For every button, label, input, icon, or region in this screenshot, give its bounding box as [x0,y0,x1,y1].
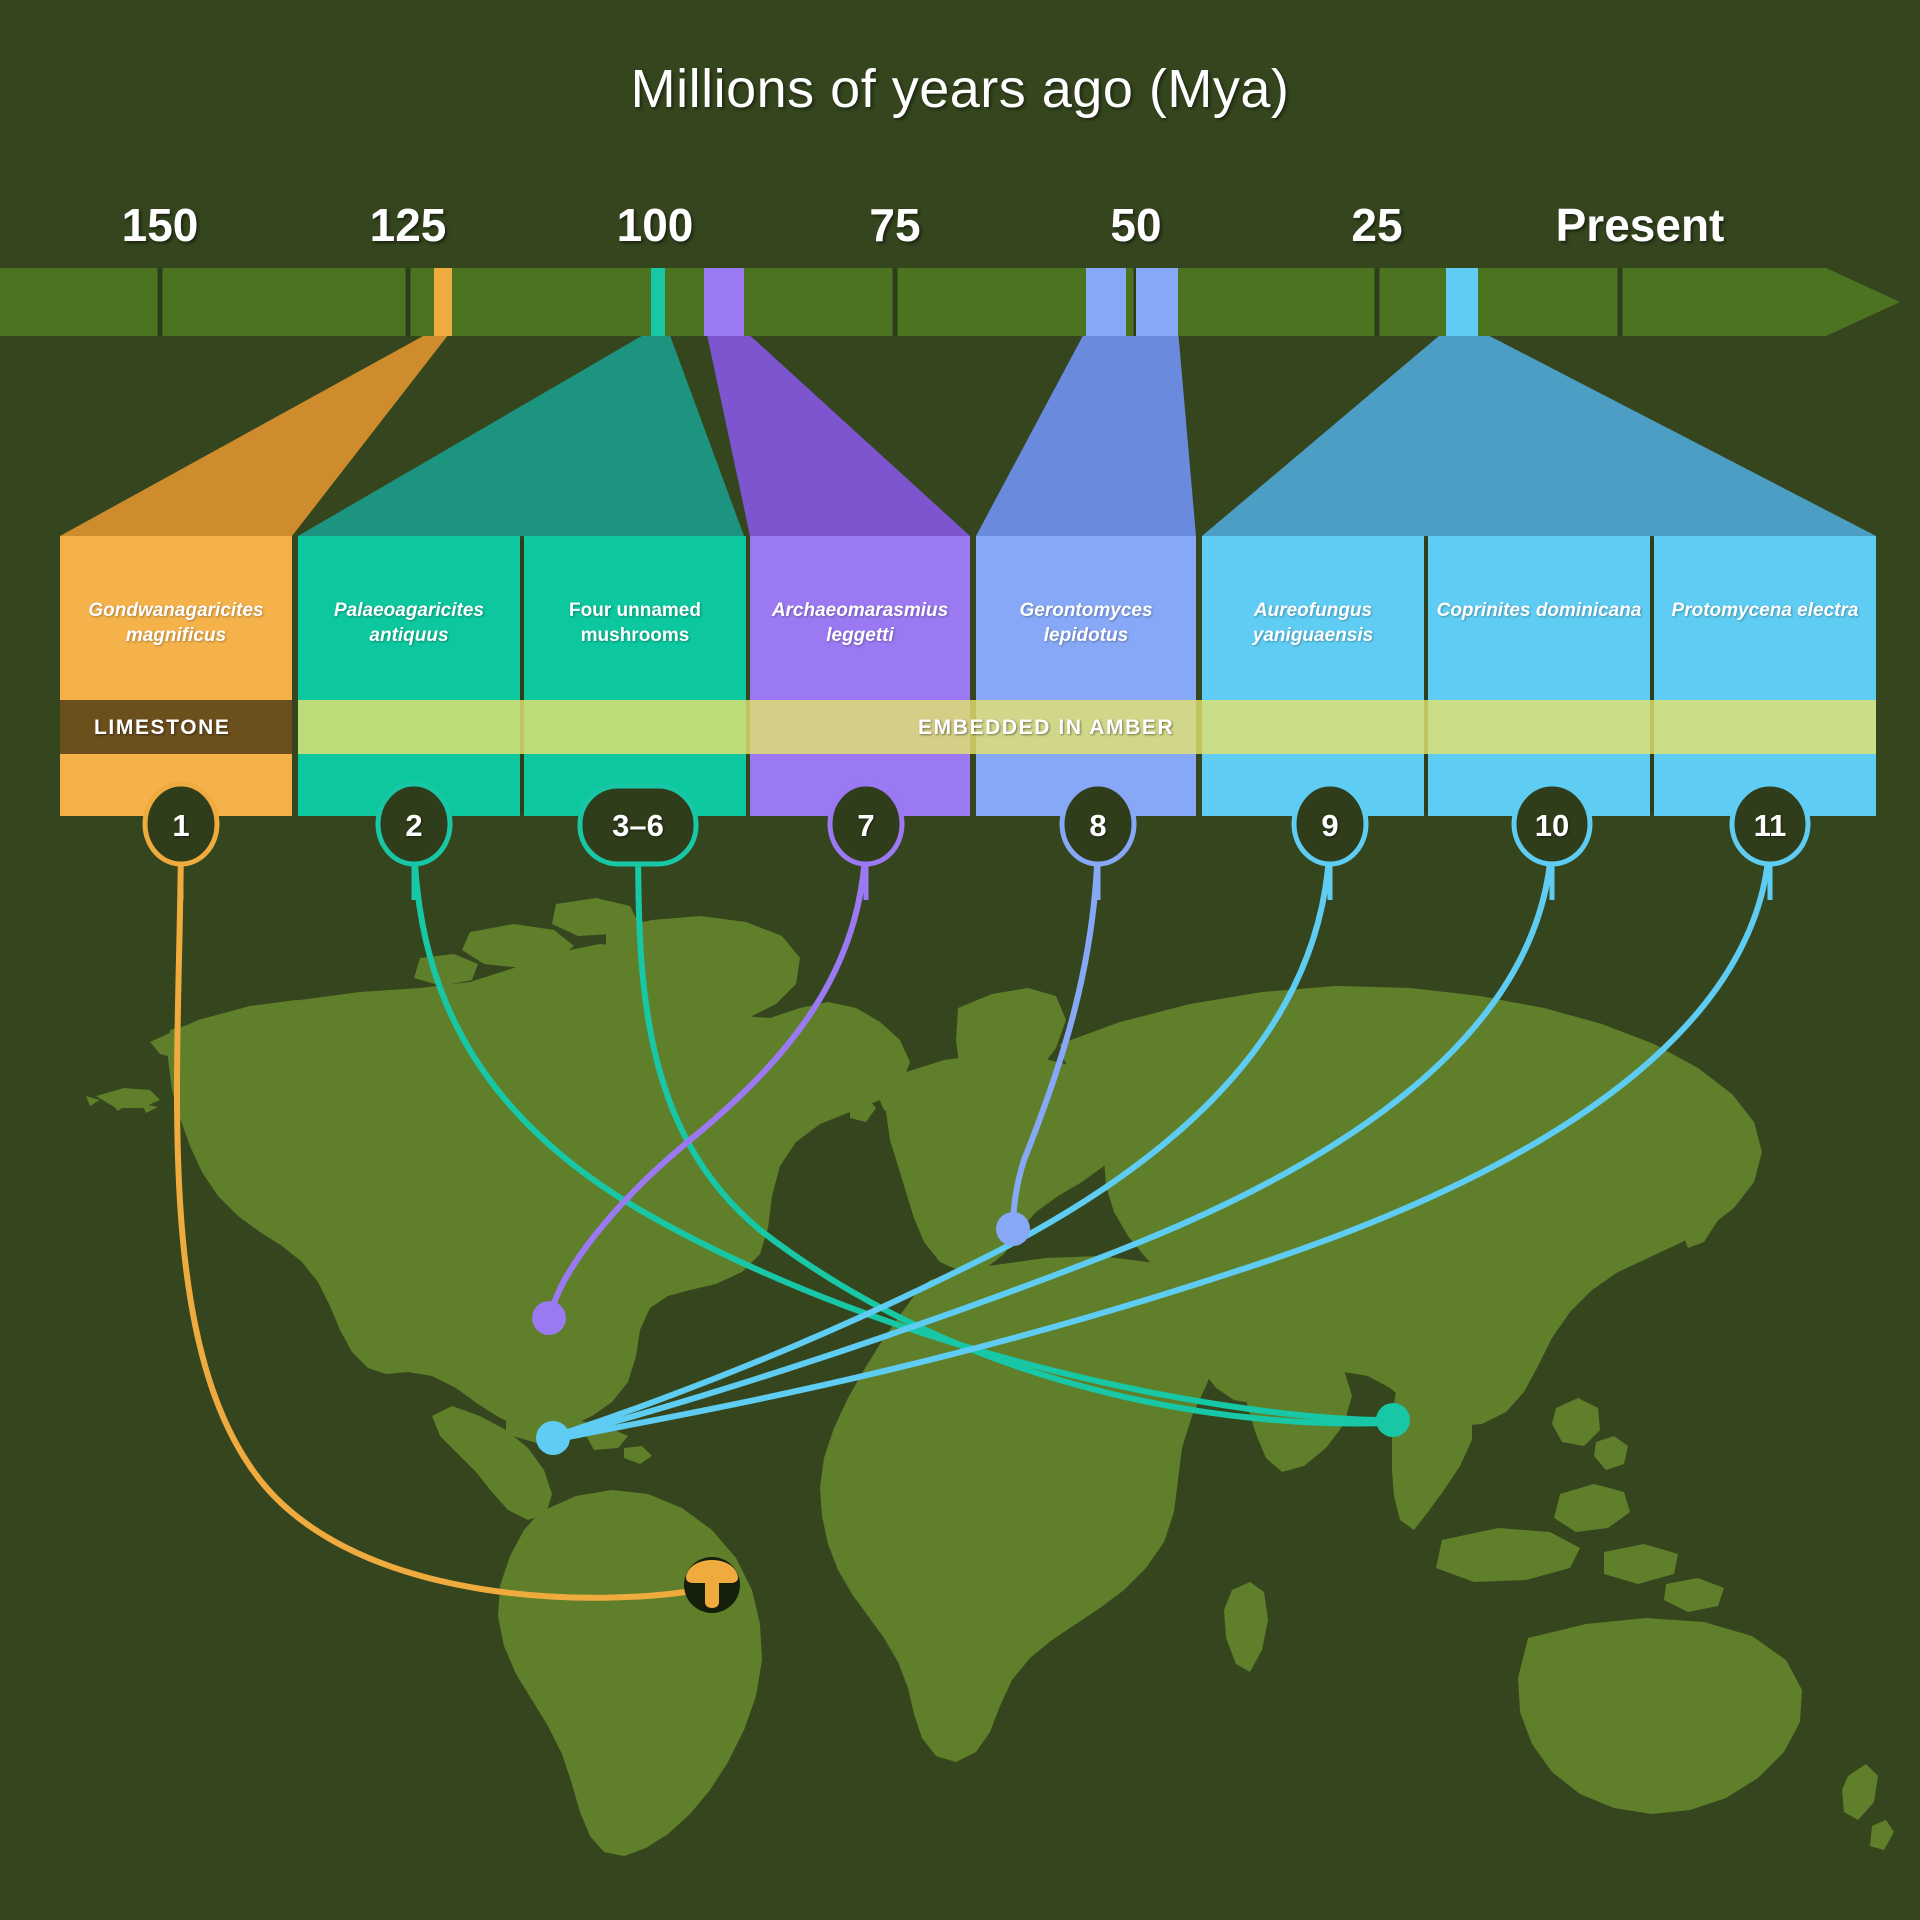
axis-tick-150: 150 [122,198,199,252]
timeline-bar [0,268,1900,336]
timeline-marker-8 [1136,268,1178,336]
species-card-10[interactable] [1428,536,1650,816]
badge-label-1: 1 [172,808,189,844]
infographic-root: Millions of years ago (Mya) 150 125 100 … [0,0,1920,1920]
timeline-marker-1 [434,268,452,336]
endpoint-dot-new-jersey [532,1301,566,1335]
timeline-marker-9-11 [1446,268,1478,336]
badge-label-9: 9 [1321,808,1338,844]
badge-label-8: 8 [1089,808,1106,844]
species-card-11[interactable] [1654,536,1876,816]
species-card-7[interactable] [750,536,970,816]
axis-tick-25: 25 [1351,198,1402,252]
badge-label-3-6: 3–6 [612,808,664,844]
timeline-marker-7 [1086,268,1126,336]
badge-label-10: 10 [1535,808,1569,844]
endpoint-dot-baltic [996,1212,1030,1246]
species-card-2[interactable] [298,536,520,816]
endpoint-dot-myanmar [1376,1403,1410,1437]
page-title: Millions of years ago (Mya) [0,58,1920,120]
endpoint-dot-dominican [536,1421,570,1455]
badge-label-2: 2 [405,808,422,844]
species-card-group [60,536,1876,816]
mushroom-icon [684,1557,740,1613]
axis-tick-present: Present [1556,198,1725,252]
axis-tick-100: 100 [617,198,694,252]
axis-tick-50: 50 [1110,198,1161,252]
timeline-marker-2 [651,268,665,336]
species-card-3-6[interactable] [524,536,746,816]
infographic-canvas [0,0,1920,1920]
species-card-1[interactable] [60,536,292,816]
badge-label-7: 7 [857,808,874,844]
species-card-9[interactable] [1202,536,1424,816]
band-label-amber: EMBEDDED IN AMBER [918,716,1174,740]
badge-label-11: 11 [1754,808,1787,844]
timeline-marker-3-6 [704,268,744,336]
species-card-8[interactable] [976,536,1196,816]
axis-tick-125: 125 [370,198,447,252]
axis-tick-75: 75 [869,198,920,252]
band-label-limestone: LIMESTONE [94,716,231,740]
